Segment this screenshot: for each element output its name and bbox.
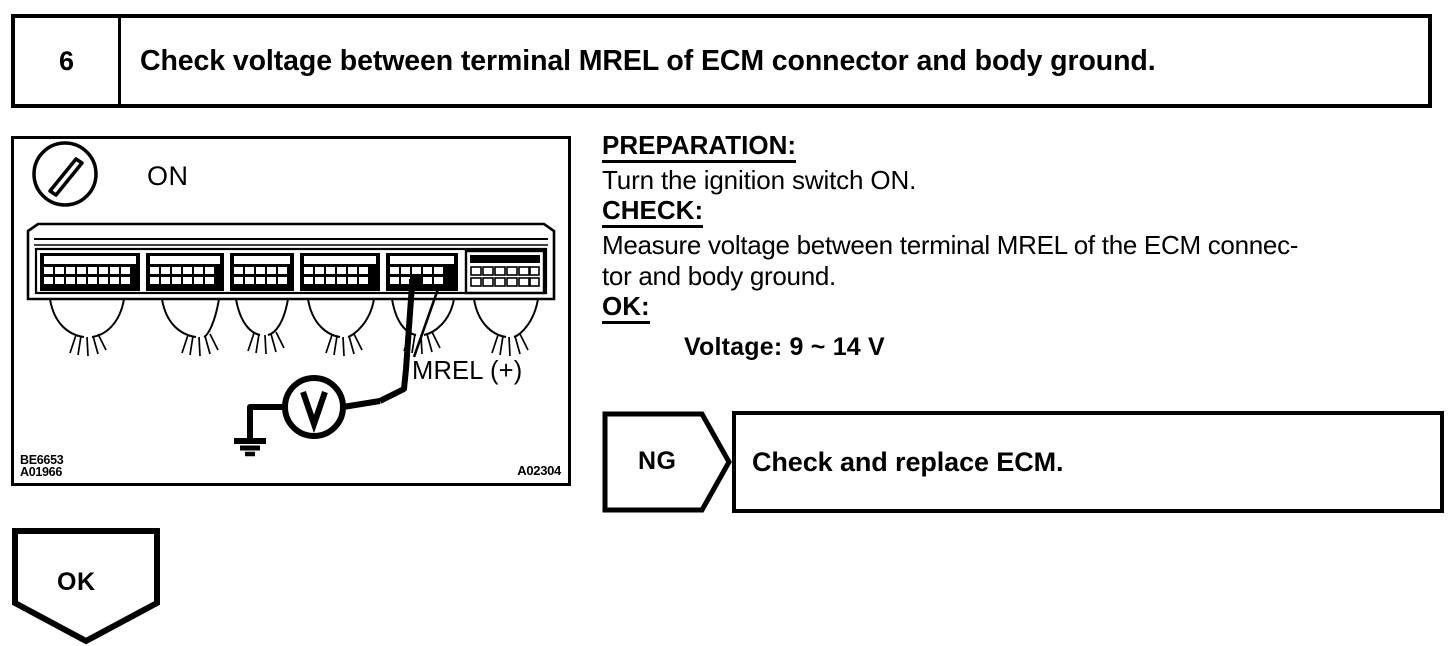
ng-result-row: NG Check and replace ECM. [602,411,1444,513]
step-number-cell: 6 [15,18,121,104]
ok-voltage-spec: Voltage: 9 ~ 14 V [602,332,1448,362]
figure-code-left: BE6653 A01966 [20,454,63,478]
ng-action-text: Check and replace ECM. [752,447,1063,478]
ground-symbol-icon [234,441,266,454]
ng-label: NG [638,447,677,476]
check-text-line-2: tor and body ground. [602,261,1448,292]
ignition-key-icon [34,143,96,205]
connector-pin-blocks [40,251,544,293]
check-text-line-1: Measure voltage between terminal MREL of… [602,230,1448,261]
check-heading: CHECK: [602,195,703,228]
ng-arrow-shape: NG [602,411,732,513]
ok-heading: OK: [602,291,650,324]
step-number: 6 [59,46,74,77]
preparation-heading: PREPARATION: [602,130,796,163]
mrel-connector-block [386,253,458,291]
step-header-table: 6 Check voltage between terminal MREL of… [11,14,1432,108]
positive-test-lead [380,279,412,401]
step-title-cell: Check voltage between terminal MREL of E… [121,18,1428,104]
ecm-connector-diagram [14,139,568,483]
mrel-terminal-label: MREL (+) [412,357,522,386]
diagram-panel: ON MREL (+) BE6653 A01966 A02304 [11,136,571,486]
ignition-state-label: ON [147,161,189,192]
ng-action-box: Check and replace ECM. [732,411,1444,513]
step-title: Check voltage between terminal MREL of E… [140,45,1156,78]
figure-code-right: A02304 [517,465,561,477]
ok-label: OK [57,568,96,597]
preparation-text: Turn the ignition switch ON. [602,165,1448,195]
wire-harness-bundles [50,299,538,356]
ok-arrow-shape: OK [11,527,161,645]
instructions-panel: PREPARATION: Turn the ignition switch ON… [602,130,1448,362]
voltmeter-icon [250,378,380,439]
